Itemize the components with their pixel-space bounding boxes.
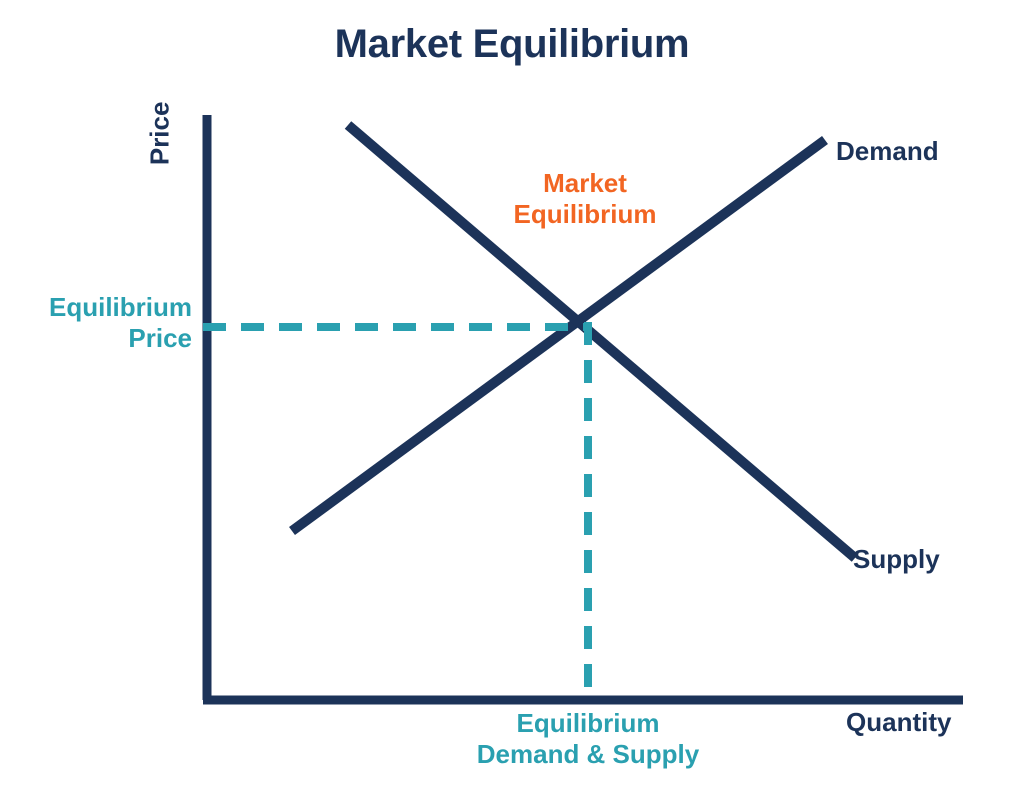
equilibrium-price-label: Equilibrium Price <box>0 292 192 353</box>
y-axis-label: Price <box>145 73 176 193</box>
market-equilibrium-label: Market Equilibrium <box>440 168 730 229</box>
demand-curve-label: Demand <box>836 136 939 167</box>
market-equilibrium-diagram: Market Equilibrium Price Quantity Demand… <box>0 0 1024 811</box>
equilibrium-quantity-label: Equilibrium Demand & Supply <box>423 708 753 769</box>
supply-curve-label: Supply <box>853 544 940 575</box>
x-axis-label: Quantity <box>846 707 951 738</box>
